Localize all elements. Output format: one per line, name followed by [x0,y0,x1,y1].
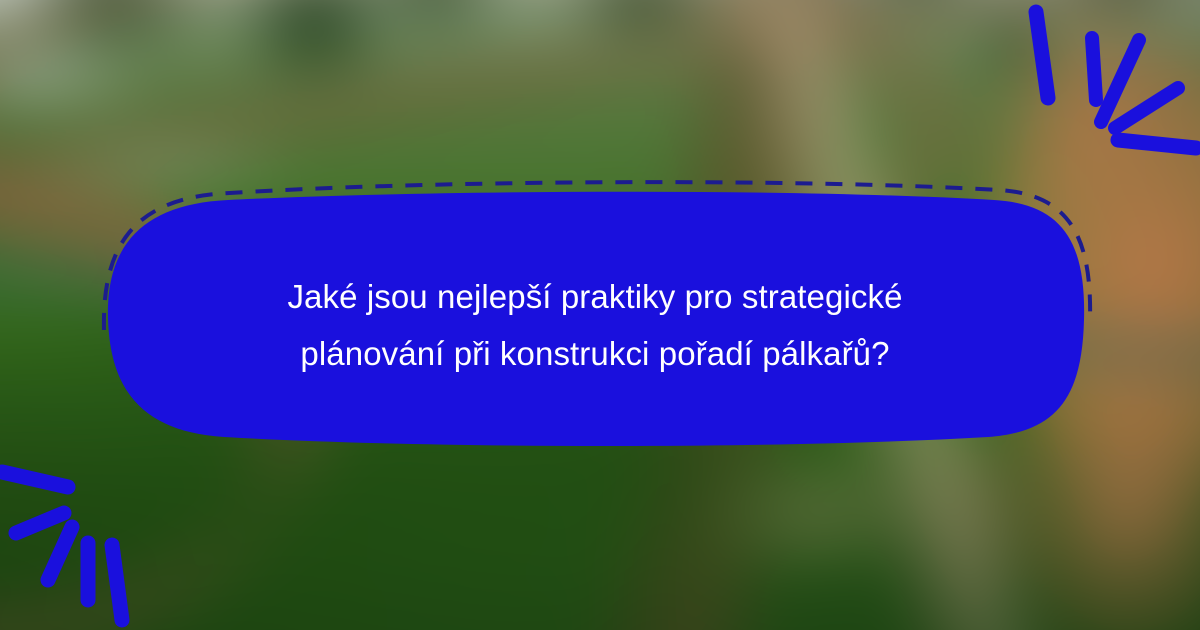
quote-text: Jaké jsou nejlepší praktiky pro strategi… [130,268,1060,382]
social-quote-card: Jaké jsou nejlepší praktiky pro strategi… [0,0,1200,630]
